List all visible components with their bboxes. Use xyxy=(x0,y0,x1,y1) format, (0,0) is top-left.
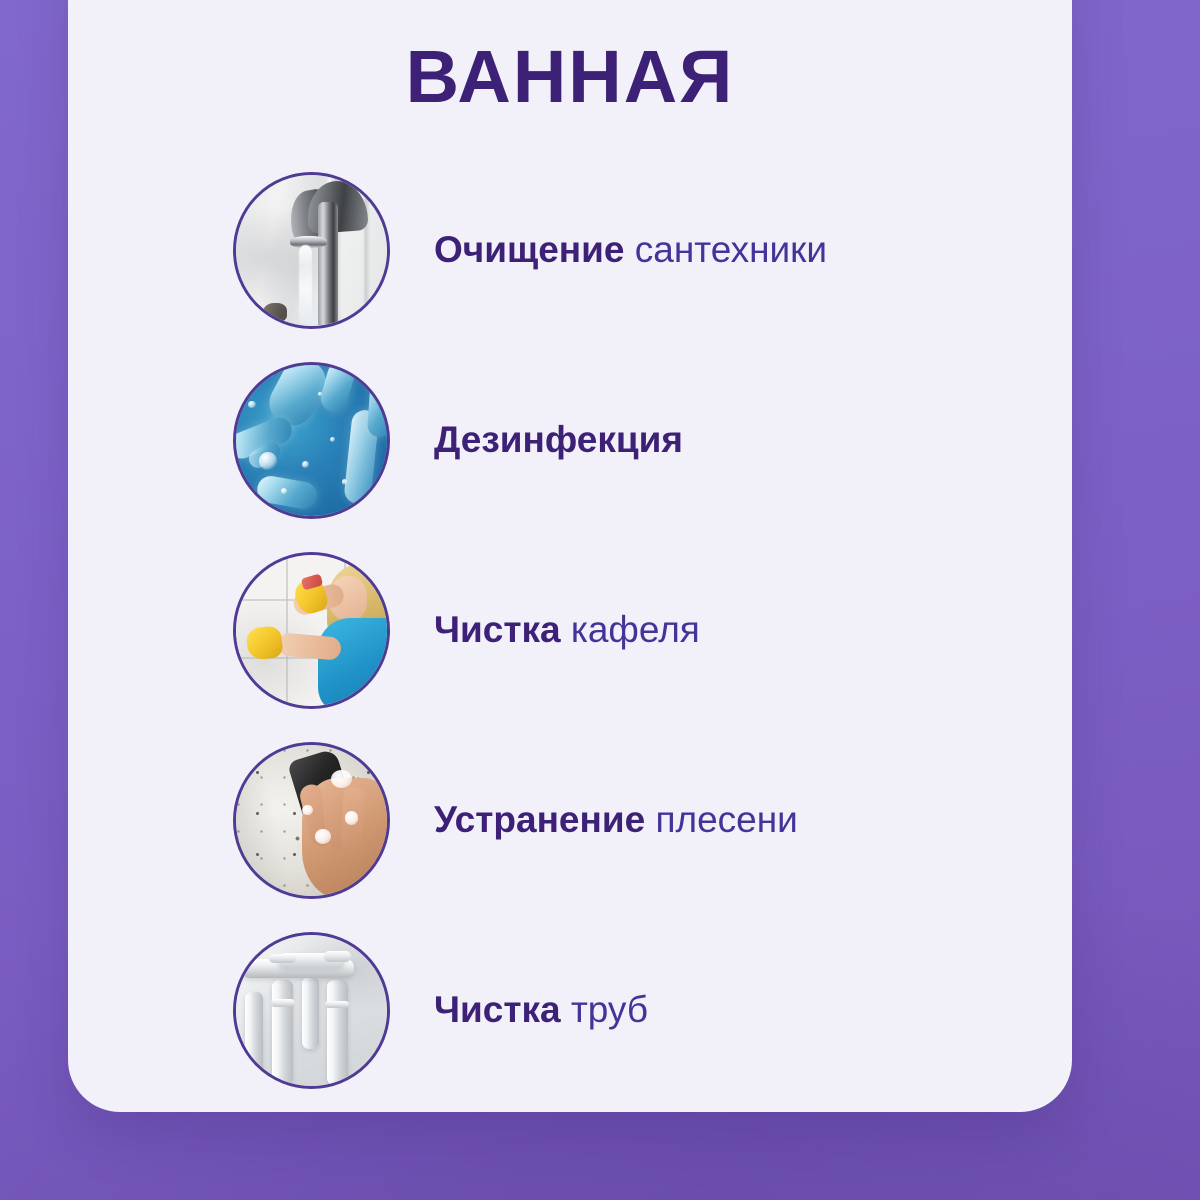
list-item-label-regular: труб xyxy=(561,989,649,1030)
list-item-label: Устранение плесени xyxy=(434,799,798,842)
bacteria-microscope-photo xyxy=(233,362,390,519)
list-item[interactable]: Очищение сантехники xyxy=(233,155,1053,345)
list-item-label-bold: Устранение xyxy=(434,799,645,840)
white-pvc-pipes-photo xyxy=(233,932,390,1089)
list-item-label: Чистка труб xyxy=(434,989,648,1032)
page-title: ВАННАЯ xyxy=(68,40,1072,114)
list-item-label-bold: Дезинфекция xyxy=(434,419,683,460)
list-item[interactable]: Устранение плесени xyxy=(233,725,1053,915)
service-card: ВАННАЯ Очищение сантехники xyxy=(68,0,1072,1112)
list-item-label-regular: кафеля xyxy=(561,609,700,650)
list-item-label-bold: Чистка xyxy=(434,609,561,650)
service-list: Очищение сантехники xyxy=(233,155,1053,1105)
list-item-label-bold: Чистка xyxy=(434,989,561,1030)
list-item-label: Чистка кафеля xyxy=(434,609,700,652)
list-item[interactable]: Чистка кафеля xyxy=(233,535,1053,725)
hand-scrubbing-mold-photo xyxy=(233,742,390,899)
list-item-label-bold: Очищение xyxy=(434,229,624,270)
list-item-label-regular: плесени xyxy=(645,799,798,840)
woman-cleaning-tile-photo xyxy=(233,552,390,709)
list-item[interactable]: Дезинфекция xyxy=(233,345,1053,535)
list-item-label: Дезинфекция xyxy=(434,419,683,462)
faucet-running-water-photo xyxy=(233,172,390,329)
list-item-label: Очищение сантехники xyxy=(434,229,827,272)
list-item[interactable]: Чистка труб xyxy=(233,915,1053,1105)
list-item-label-regular: сантехники xyxy=(624,229,827,270)
infographic-page: { "card": { "title": "ВАННАЯ", "backgrou… xyxy=(0,0,1200,1200)
